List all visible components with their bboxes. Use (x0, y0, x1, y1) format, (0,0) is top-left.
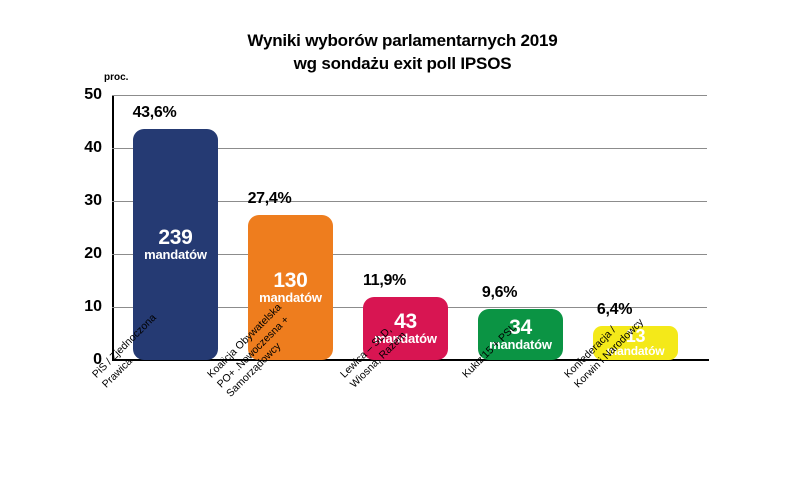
value-label-ko: 27,4% (217, 190, 322, 208)
y-axis-unit-label: proc. (104, 72, 128, 83)
chart-title-line-1: Wyniki wyborów parlamentarnych 2019 (247, 31, 557, 50)
bar-seat-word-ko: mandatów (259, 291, 322, 306)
y-tick-40: 40 (58, 139, 102, 157)
bar-chart: Wyniki wyborów parlamentarnych 2019 wg s… (0, 0, 805, 497)
bar-seat-word-pis: mandatów (144, 248, 207, 263)
bar-seat-count-pis: 239 (158, 227, 192, 248)
value-label-pis: 43,6% (102, 104, 207, 122)
y-tick-10: 10 (58, 298, 102, 316)
y-tick-30: 30 (58, 192, 102, 210)
bar-seat-count-ko: 130 (273, 270, 307, 291)
y-tick-20: 20 (58, 245, 102, 263)
gridline-50 (112, 95, 707, 96)
page-title: Wyniki wyborów parlamentarnych 2019 wg s… (0, 30, 805, 76)
value-label-kukiz: 9,6% (447, 284, 552, 302)
value-label-konfederacja: 6,4% (562, 301, 667, 319)
value-label-lewica: 11,9% (332, 272, 437, 290)
y-tick-50: 50 (58, 86, 102, 104)
